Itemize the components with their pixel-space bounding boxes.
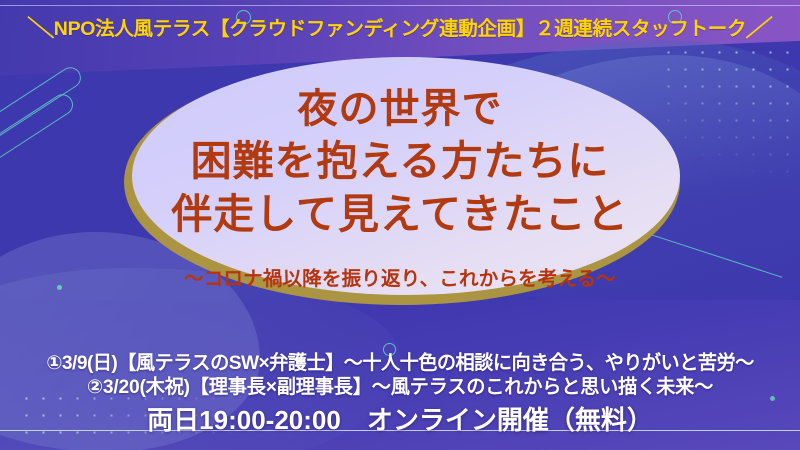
schedule-line: 両日19:00-20:00 オンライン開催（無料） [0,403,800,437]
subtitle: 〜コロナ禍以降を振り返り、これからを考える〜 [0,262,800,291]
title-line-2: 困難を抱える方たちに [0,135,800,188]
title-line-1: 夜の世界で [0,82,800,135]
footer-details: ①3/9(日)【風テラスのSW×弁護士】〜十人十色の相談に向き合う、やりがいと苦… [0,352,800,437]
header-banner: ＼NPO法人風テラス【クラウドファンディング連動企画】２週連続スタッフトーク／ [0,9,800,43]
header-title: NPO法人風テラス【クラウドファンディング連動企画】２週連続スタッフトーク [54,12,746,41]
slash-left-icon: ＼ [25,9,55,43]
main-title: 夜の世界で 困難を抱える方たちに 伴走して見えてきたこと [0,82,800,241]
slash-right-icon: ／ [745,9,775,43]
event-poster: ＼NPO法人風テラス【クラウドファンディング連動企画】２週連続スタッフトーク／ … [0,0,800,450]
title-line-3: 伴走して見えてきたこと [0,188,800,241]
session-line-2: ②3/20(木祝)【理事長×副理事長】〜風テラスのこれからと思い描く未来〜 [0,376,800,400]
session-line-1: ①3/9(日)【風テラスのSW×弁護士】〜十人十色の相談に向き合う、やりがいと苦… [0,352,800,376]
